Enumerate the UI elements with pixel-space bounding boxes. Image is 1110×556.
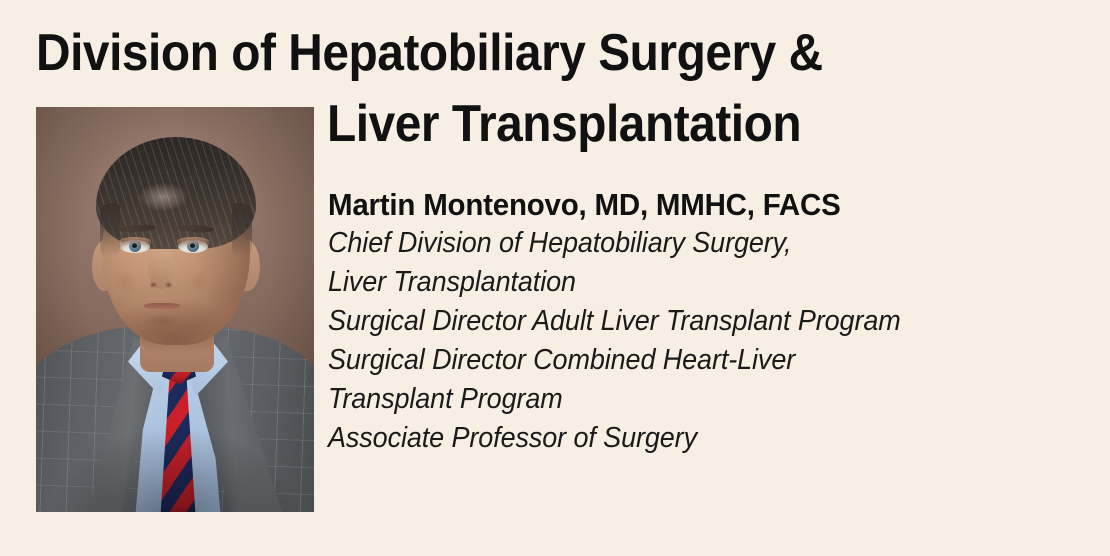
chin-shadow	[136, 315, 188, 335]
eyelid-right	[177, 237, 209, 246]
eyelid-left	[119, 237, 151, 246]
slide-root: Division of Hepatobiliary Surgery & Live…	[0, 0, 1110, 556]
sideburn-left	[100, 203, 120, 257]
page-title-line-1: Division of Hepatobiliary Surgery &	[36, 24, 823, 82]
person-name: Martin Montenovo, MD, MMHC, FACS	[328, 186, 1060, 224]
cheek-left	[110, 265, 140, 299]
person-title-line-4: Surgical Director Combined Heart-Liver	[328, 341, 1044, 380]
mouth	[144, 303, 180, 309]
person-title-line-1: Chief Division of Hepatobiliary Surgery,	[328, 224, 1044, 263]
nostrils	[148, 281, 174, 289]
person-title-line-6: Associate Professor of Surgery	[328, 419, 1044, 458]
cheek-right	[184, 265, 214, 299]
forehead-highlight	[128, 177, 198, 217]
person-title-line-2: Liver Transplantation	[328, 263, 1044, 302]
page-title-line-2: Liver Transplantation	[327, 95, 801, 153]
person-title-line-5: Transplant Program	[328, 380, 1044, 419]
portrait-photo	[36, 107, 314, 512]
person-info-block: Martin Montenovo, MD, MMHC, FACS Chief D…	[328, 186, 1098, 458]
person-title-line-3: Surgical Director Adult Liver Transplant…	[328, 302, 1044, 341]
sideburn-right	[232, 203, 252, 257]
